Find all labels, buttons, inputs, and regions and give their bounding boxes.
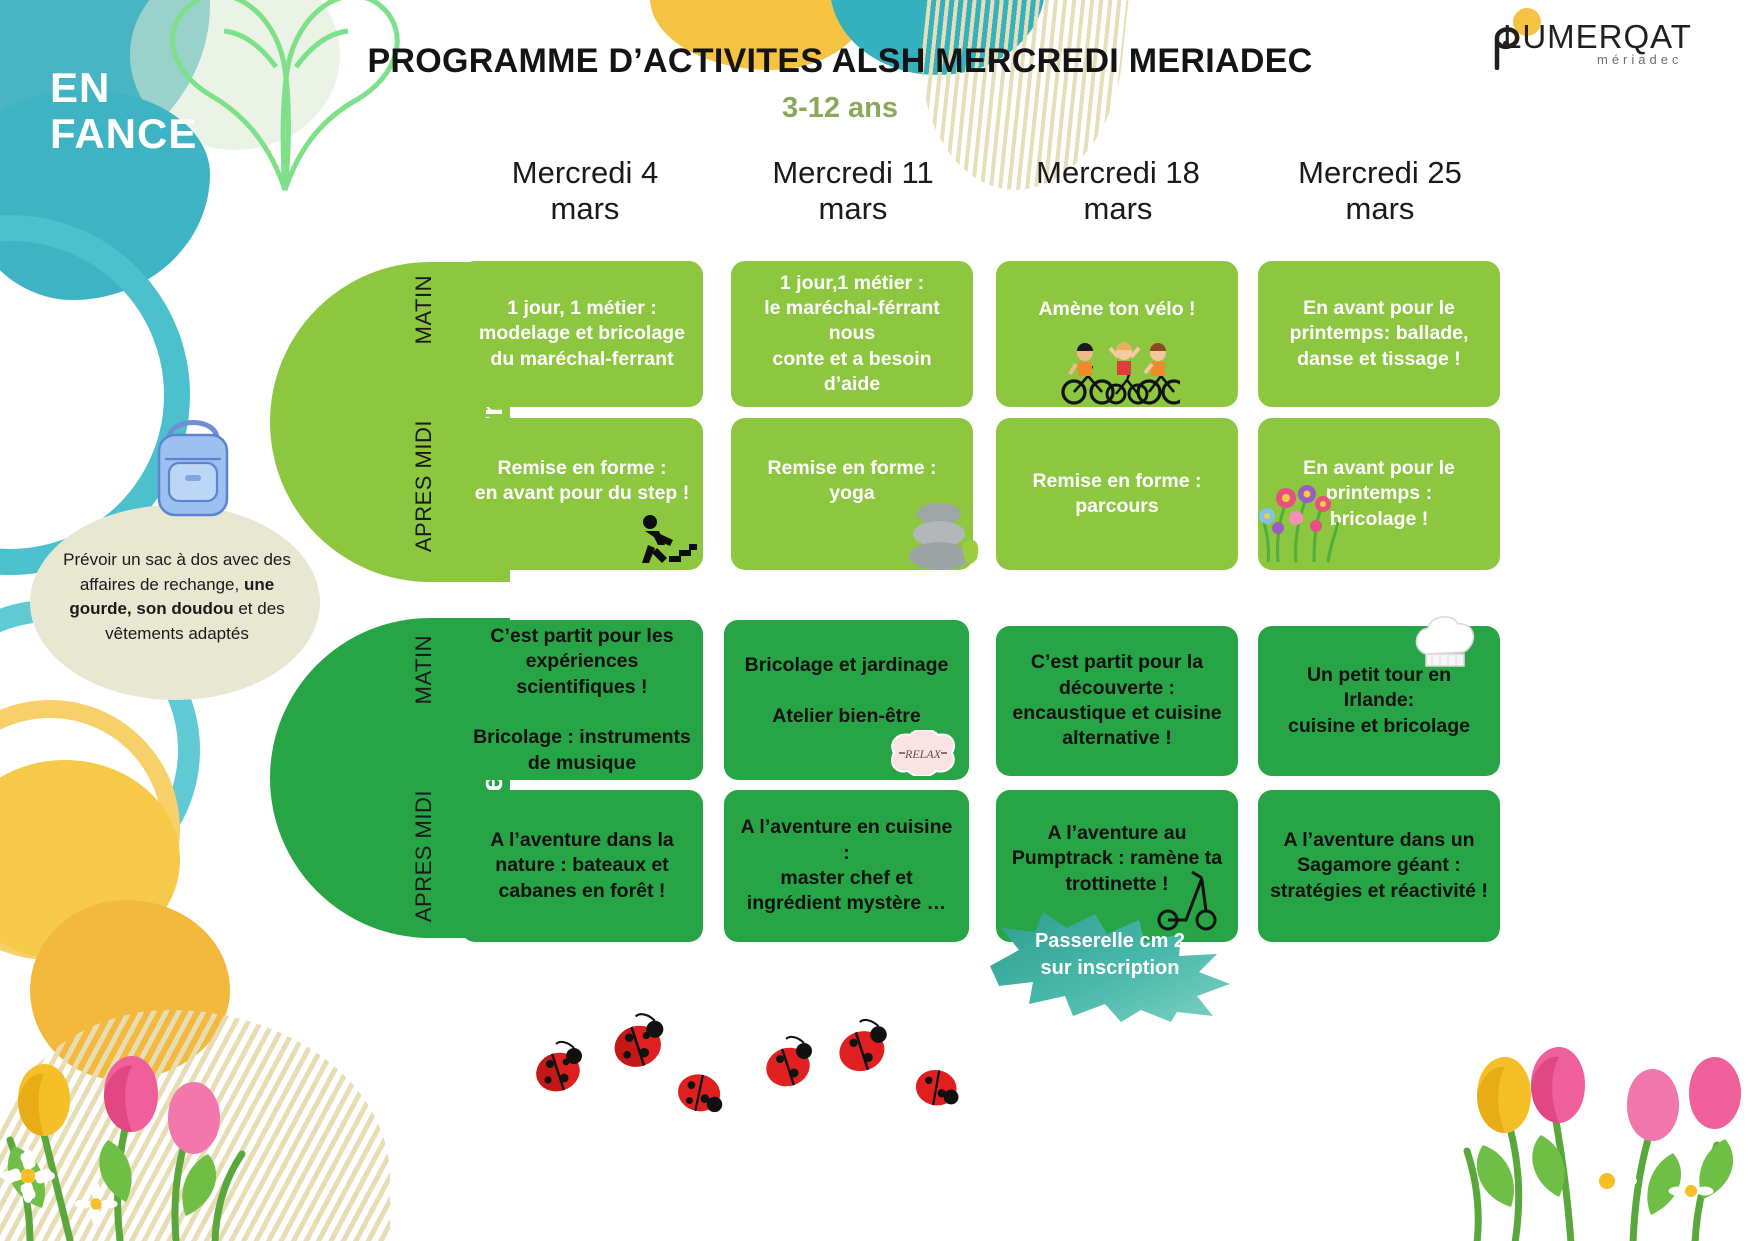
ladybug-icon-6 (910, 1058, 968, 1110)
column-header-4: Mercredi 25 mars (1255, 155, 1505, 226)
note-bold-1: une (244, 575, 274, 594)
activity-card-elementaire-matin-1[interactable]: C’est partit pour les expériences scient… (461, 620, 703, 780)
green-blob-decoration (130, 0, 340, 150)
activity-card-maternelle-matin-1[interactable]: 1 jour, 1 métier : modelage et bricolage… (461, 261, 703, 407)
relax-sticker-icon: RELAX (886, 730, 960, 776)
note-bold-2: gourde, son doudou (69, 599, 233, 618)
page-subtitle: 3-12 ans (330, 92, 1350, 125)
ladybug-icon-5 (832, 1018, 898, 1076)
ladybug-icon-4 (760, 1035, 822, 1091)
teal-blob-decoration-2 (0, 90, 210, 300)
column-day-1: Mercredi 4 (460, 155, 710, 191)
column-day-3: Mercredi 18 (993, 155, 1243, 191)
scooter-icon (1156, 862, 1218, 934)
row-label-maternelle-matin: MATIN (405, 275, 443, 410)
badge-line-2: sur inscription (985, 955, 1235, 982)
ladybug-icon-2 (608, 1012, 674, 1072)
note-line-1: Prévoir un sac à dos avec des (63, 550, 291, 569)
row-label-maternelle-aprem: APRES MIDI (405, 420, 443, 575)
activity-card-elementaire-aprem-2[interactable]: A l’aventure en cuisine : master chef et… (724, 790, 969, 942)
column-header-1: Mercredi 4 mars (460, 155, 710, 226)
activity-card-elementaire-aprem-4[interactable]: A l’aventure dans un Sagamore géant : st… (1258, 790, 1500, 942)
logo-wordmark: LUMERQAT (1503, 18, 1692, 56)
column-month-4: mars (1255, 191, 1505, 227)
column-header-2: Mercredi 11 mars (728, 155, 978, 226)
enfance-decor-text: ENFANCE (50, 65, 197, 157)
backpack-icon (145, 405, 241, 525)
column-header-3: Mercredi 18 mars (993, 155, 1243, 226)
row-label-elementaire-matin: MATIN (405, 635, 443, 770)
yellow-blob-left-decoration (0, 760, 180, 960)
tulip-bouquet-left-icon (0, 990, 300, 1241)
step-exercise-icon (635, 512, 697, 574)
svg-text:RELAX: RELAX (904, 747, 942, 761)
tulip-bouquet-right-icon (1455, 985, 1755, 1241)
activity-card-maternelle-aprem-3[interactable]: Remise en forme : parcours (996, 418, 1238, 570)
note-line-3: et des (234, 599, 285, 618)
row-label-elementaire-aprem: APRES MIDI (405, 790, 443, 945)
kids-on-bicycles-icon (1056, 340, 1180, 406)
ladybug-icon-3 (672, 1062, 732, 1116)
poster-root: ENFANCE PROGRAMME D’ACTIVITES ALSH MERCR… (0, 0, 1755, 1241)
chef-hat-icon (1412, 612, 1478, 672)
plumergat-logo: LUMERQAT mériadec (1485, 8, 1735, 74)
column-month-2: mars (728, 191, 978, 227)
activity-card-elementaire-matin-3[interactable]: C’est partit pour la découverte : encaus… (996, 626, 1238, 776)
activity-card-elementaire-aprem-1[interactable]: A l’aventure dans la nature : bateaux et… (461, 790, 703, 942)
activity-card-maternelle-matin-4[interactable]: En avant pour le printemps: ballade, dan… (1258, 261, 1500, 407)
badge-line-1: Passerelle cm 2 (985, 928, 1235, 955)
ladybug-icon-1 (530, 1040, 592, 1096)
note-line-2: affaires de rechange, (80, 575, 244, 594)
info-note-text: Prévoir un sac à dos avec des affaires d… (48, 548, 306, 647)
yellow-ring-decoration (0, 700, 180, 960)
spring-flowers-icon (1258, 470, 1342, 566)
column-month-3: mars (993, 191, 1243, 227)
column-month-1: mars (460, 191, 710, 227)
column-day-2: Mercredi 11 (728, 155, 978, 191)
column-day-4: Mercredi 25 (1255, 155, 1505, 191)
page-title: PROGRAMME D’ACTIVITES ALSH MERCREDI MERI… (330, 42, 1350, 81)
logo-subtitle: mériadec (1597, 52, 1682, 67)
passerelle-badge-text: Passerelle cm 2 sur inscription (985, 928, 1235, 982)
zen-stones-icon (905, 500, 983, 572)
activity-card-maternelle-matin-2[interactable]: 1 jour,1 métier : le maréchal-férrant no… (731, 261, 973, 407)
note-line-4: vêtements adaptés (105, 624, 249, 643)
teal-blob-decoration (0, 0, 210, 180)
